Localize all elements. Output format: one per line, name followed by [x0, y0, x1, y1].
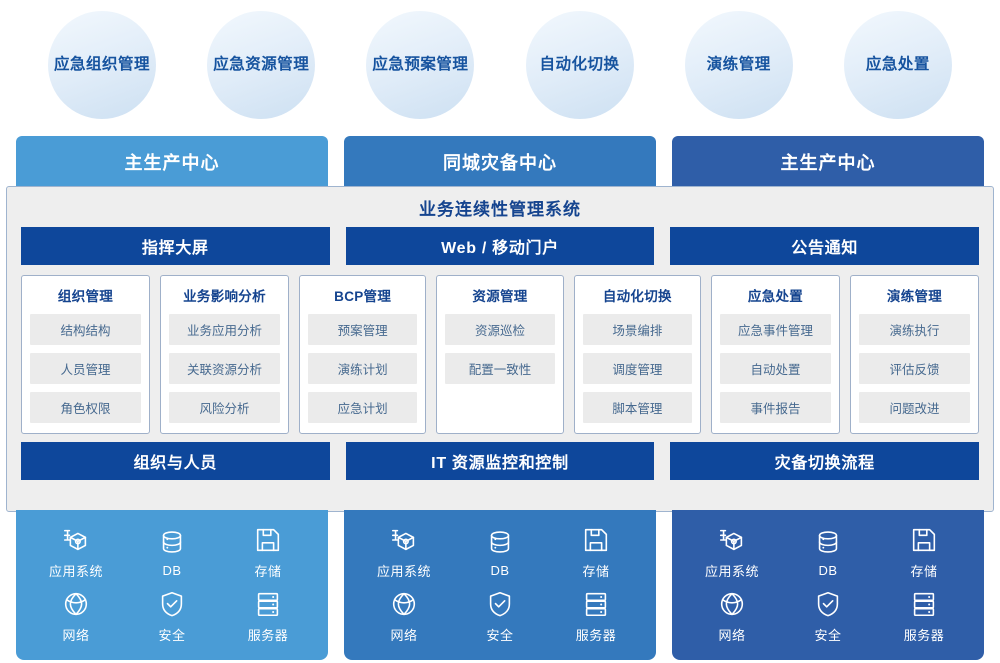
infrastructure-item[interactable]: 应用系统	[705, 525, 759, 580]
application-system-icon	[61, 525, 91, 555]
bcm-module-groups: 组织管理结构结构人员管理角色权限业务影响分析业务应用分析关联资源分析风险分析BC…	[7, 265, 993, 442]
capability-circle-label: 应急处置	[860, 55, 936, 76]
infrastructure-item-label: 网络	[390, 625, 417, 644]
module-card-item[interactable]: 资源巡检	[445, 314, 554, 345]
capability-circle-label: 应急预案管理	[366, 55, 474, 76]
module-card[interactable]: BCP管理预案管理演练计划应急计划	[299, 275, 426, 434]
infrastructure-item-label: 服务器	[576, 625, 617, 644]
module-card-item[interactable]: 问题改进	[859, 392, 970, 423]
infrastructure-item-label: 网络	[718, 625, 745, 644]
bottom-bars-1[interactable]: 组织与人员	[21, 442, 330, 480]
capability-circle-4[interactable]: 自动化切换	[526, 11, 634, 119]
infrastructure-item-label: 存储	[910, 561, 937, 580]
module-card[interactable]: 资源管理资源巡检配置一致性	[436, 275, 563, 434]
infrastructure-item-label: 应用系统	[377, 561, 431, 580]
bottom-bars-3[interactable]: 灾备切换流程	[670, 442, 979, 480]
bottom-bars-2[interactable]: IT 资源监控和控制	[346, 442, 655, 480]
module-card-item[interactable]: 脚本管理	[583, 392, 692, 423]
network-icon	[717, 589, 747, 619]
module-card-item[interactable]: 评估反馈	[859, 353, 970, 384]
module-card-item[interactable]: 应急事件管理	[720, 314, 831, 345]
module-card[interactable]: 应急处置应急事件管理自动处置事件报告	[711, 275, 840, 434]
module-card-title: 应急处置	[720, 285, 831, 305]
module-card-title: 资源管理	[445, 285, 554, 305]
infrastructure-item-label: DB	[818, 563, 837, 578]
application-system-icon	[717, 525, 747, 555]
bcm-title: 业务连续性管理系统	[7, 187, 993, 227]
server-rack-icon	[909, 589, 939, 619]
infrastructure-item[interactable]: 存储	[581, 525, 611, 580]
infrastructure-item[interactable]: 服务器	[904, 589, 945, 644]
infrastructure-item[interactable]: 应用系统	[377, 525, 431, 580]
data-center-header-2[interactable]: 同城灾备中心	[344, 136, 656, 192]
infrastructure-item[interactable]: 安全	[485, 589, 515, 644]
infrastructure-item-label: 安全	[486, 625, 513, 644]
module-card[interactable]: 组织管理结构结构人员管理角色权限	[21, 275, 150, 434]
infrastructure-item[interactable]: 存储	[253, 525, 283, 580]
infrastructure-panel-1: 应用系统DB存储网络安全服务器	[16, 510, 328, 660]
module-card-item[interactable]: 调度管理	[583, 353, 692, 384]
capability-circle-2[interactable]: 应急资源管理	[207, 11, 315, 119]
data-center-header-3[interactable]: 主生产中心	[672, 136, 984, 192]
module-card-item[interactable]: 结构结构	[30, 314, 141, 345]
infrastructure-item-label: DB	[490, 563, 509, 578]
data-center-header-1[interactable]: 主生产中心	[16, 136, 328, 192]
architecture-diagram: 应急组织管理应急资源管理应急预案管理自动化切换演练管理应急处置 主生产中心同城灾…	[0, 0, 1000, 663]
server-rack-icon	[581, 589, 611, 619]
infrastructure-item-label: 安全	[158, 625, 185, 644]
infrastructure-item[interactable]: 服务器	[248, 589, 289, 644]
module-card-item[interactable]: 配置一致性	[445, 353, 554, 384]
module-card-item[interactable]: 人员管理	[30, 353, 141, 384]
security-shield-icon	[485, 589, 515, 619]
module-card-title: 演练管理	[859, 285, 970, 305]
database-icon	[157, 527, 187, 557]
server-rack-icon	[253, 589, 283, 619]
infrastructure-item-label: 存储	[582, 561, 609, 580]
top-bars-1[interactable]: 指挥大屏	[21, 227, 330, 265]
module-group-2: BCP管理预案管理演练计划应急计划资源管理资源巡检配置一致性自动化切换场景编排调…	[299, 275, 701, 434]
infrastructure-panel-2: 应用系统DB存储网络安全服务器	[344, 510, 656, 660]
infrastructure-item-label: 网络	[62, 625, 89, 644]
infrastructure-item[interactable]: 安全	[157, 589, 187, 644]
module-card-item[interactable]: 角色权限	[30, 392, 141, 423]
infrastructure-item[interactable]: 存储	[909, 525, 939, 580]
infrastructure-item-label: 存储	[254, 561, 281, 580]
infrastructure-item[interactable]: 服务器	[576, 589, 617, 644]
security-shield-icon	[157, 589, 187, 619]
storage-icon	[581, 525, 611, 555]
security-shield-icon	[813, 589, 843, 619]
module-card[interactable]: 演练管理演练执行评估反馈问题改进	[850, 275, 979, 434]
infrastructure-item[interactable]: DB	[157, 527, 187, 578]
module-card-item[interactable]: 预案管理	[308, 314, 417, 345]
network-icon	[61, 589, 91, 619]
database-icon	[813, 527, 843, 557]
module-card-item[interactable]: 关联资源分析	[169, 353, 280, 384]
module-card-title: 自动化切换	[583, 285, 692, 305]
infrastructure-item[interactable]: 安全	[813, 589, 843, 644]
module-card-item[interactable]: 应急计划	[308, 392, 417, 423]
capability-circle-label: 应急组织管理	[48, 55, 156, 76]
data-center-headers: 主生产中心同城灾备中心主生产中心	[0, 136, 1000, 192]
database-icon	[485, 527, 515, 557]
storage-icon	[909, 525, 939, 555]
module-card-item[interactable]: 业务应用分析	[169, 314, 280, 345]
module-card-item[interactable]: 风险分析	[169, 392, 280, 423]
module-card[interactable]: 自动化切换场景编排调度管理脚本管理	[574, 275, 701, 434]
capability-circle-label: 自动化切换	[534, 55, 626, 76]
infrastructure-item[interactable]: 网络	[61, 589, 91, 644]
capability-circle-5[interactable]: 演练管理	[685, 11, 793, 119]
capability-circles-row: 应急组织管理应急资源管理应急预案管理自动化切换演练管理应急处置	[0, 0, 1000, 130]
module-card-item[interactable]: 演练执行	[859, 314, 970, 345]
module-card-item[interactable]: 演练计划	[308, 353, 417, 384]
infrastructure-row: 应用系统DB存储网络安全服务器应用系统DB存储网络安全服务器应用系统DB存储网络…	[0, 510, 1000, 660]
infrastructure-item[interactable]: DB	[485, 527, 515, 578]
infrastructure-item-label: 服务器	[904, 625, 945, 644]
module-card-title: BCP管理	[308, 285, 417, 305]
application-system-icon	[389, 525, 419, 555]
infrastructure-item-label: 服务器	[248, 625, 289, 644]
module-card-item[interactable]: 自动处置	[720, 353, 831, 384]
capability-circle-label: 演练管理	[701, 55, 777, 76]
capability-circle-label: 应急资源管理	[207, 55, 315, 76]
infrastructure-item-label: 应用系统	[49, 561, 103, 580]
infrastructure-item-label: DB	[162, 563, 181, 578]
infrastructure-item[interactable]: DB	[813, 527, 843, 578]
bcm-container: 业务连续性管理系统 指挥大屏Web / 移动门户公告通知 组织管理结构结构人员管…	[6, 186, 994, 512]
module-group-3: 应急处置应急事件管理自动处置事件报告演练管理演练执行评估反馈问题改进	[711, 275, 979, 434]
capability-circle-6[interactable]: 应急处置	[844, 11, 952, 119]
top-bars-2[interactable]: Web / 移动门户	[346, 227, 655, 265]
infrastructure-item-label: 安全	[814, 625, 841, 644]
storage-icon	[253, 525, 283, 555]
infrastructure-item[interactable]: 网络	[389, 589, 419, 644]
module-card[interactable]: 业务影响分析业务应用分析关联资源分析风险分析	[160, 275, 289, 434]
infrastructure-item[interactable]: 网络	[717, 589, 747, 644]
capability-circle-3[interactable]: 应急预案管理	[366, 11, 474, 119]
bcm-bottom-bar-row: 组织与人员IT 资源监控和控制灾备切换流程	[7, 442, 993, 480]
top-bars-3[interactable]: 公告通知	[670, 227, 979, 265]
capability-circle-1[interactable]: 应急组织管理	[48, 11, 156, 119]
network-icon	[389, 589, 419, 619]
module-card-title: 业务影响分析	[169, 285, 280, 305]
infrastructure-item[interactable]: 应用系统	[49, 525, 103, 580]
infrastructure-item-label: 应用系统	[705, 561, 759, 580]
infrastructure-panel-3: 应用系统DB存储网络安全服务器	[672, 510, 984, 660]
module-card-title: 组织管理	[30, 285, 141, 305]
module-group-1: 组织管理结构结构人员管理角色权限业务影响分析业务应用分析关联资源分析风险分析	[21, 275, 289, 434]
module-card-item[interactable]: 事件报告	[720, 392, 831, 423]
module-card-item[interactable]: 场景编排	[583, 314, 692, 345]
bcm-top-bar-row: 指挥大屏Web / 移动门户公告通知	[7, 227, 993, 265]
